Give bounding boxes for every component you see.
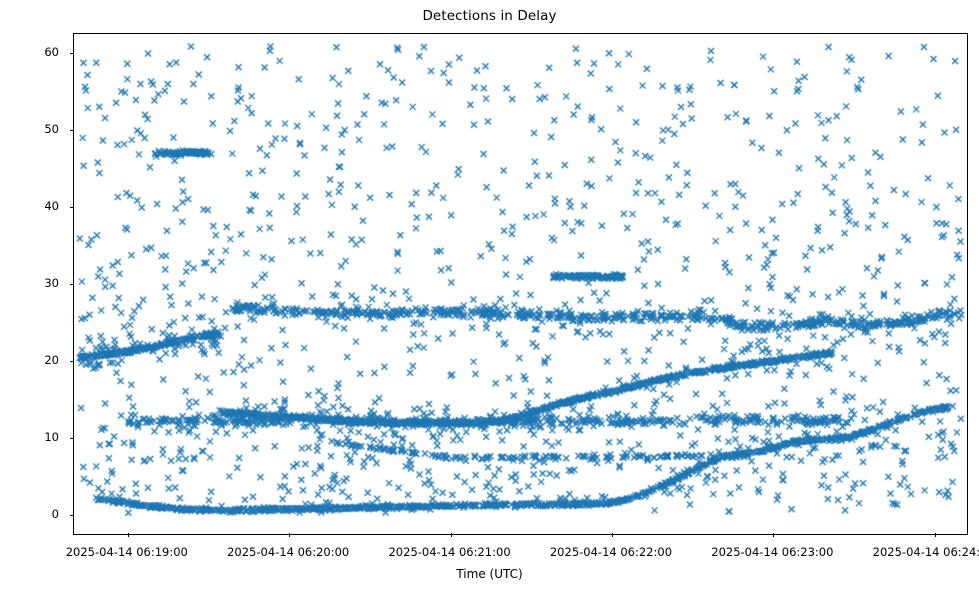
y-tick-mark: [70, 515, 74, 516]
x-tick-mark: [935, 533, 936, 537]
y-tick-label: 60: [0, 45, 59, 59]
x-tick-label: 2025-04-14 06:19:00: [66, 545, 188, 559]
y-tick-labels: 0102030405060: [0, 33, 68, 535]
x-axis-label: Time (UTC): [0, 567, 979, 581]
y-tick-mark: [70, 361, 74, 362]
x-tick-mark: [128, 533, 129, 537]
y-tick-label: 0: [0, 507, 59, 521]
x-tick-mark: [612, 533, 613, 537]
matplotlib-figure: Detections in Delay 0102030405060 2025-0…: [0, 0, 979, 590]
x-tick-label: 2025-04-14 06:22:00: [550, 545, 672, 559]
y-tick-label: 20: [0, 353, 59, 367]
x-tick-mark: [773, 533, 774, 537]
x-tick-label: 2025-04-14 06:23:00: [711, 545, 833, 559]
y-tick-mark: [70, 284, 74, 285]
x-tick-labels: 2025-04-14 06:19:002025-04-14 06:20:0020…: [73, 543, 968, 563]
y-tick-label: 10: [0, 430, 59, 444]
y-tick-mark: [70, 53, 74, 54]
x-tick-marks: [74, 34, 967, 534]
plot-axes: [73, 33, 968, 535]
y-tick-label: 30: [0, 276, 59, 290]
x-tick-mark: [289, 533, 290, 537]
y-tick-label: 50: [0, 122, 59, 136]
y-tick-mark: [70, 130, 74, 131]
y-tick-label: 40: [0, 199, 59, 213]
y-tick-mark: [70, 207, 74, 208]
page-title: Detections in Delay: [0, 8, 979, 24]
x-tick-label: 2025-04-14 06:20:00: [227, 545, 349, 559]
x-tick-mark: [451, 533, 452, 537]
x-tick-label: 2025-04-14 06:24:00: [873, 545, 979, 559]
x-tick-label: 2025-04-14 06:21:00: [388, 545, 510, 559]
y-tick-mark: [70, 438, 74, 439]
